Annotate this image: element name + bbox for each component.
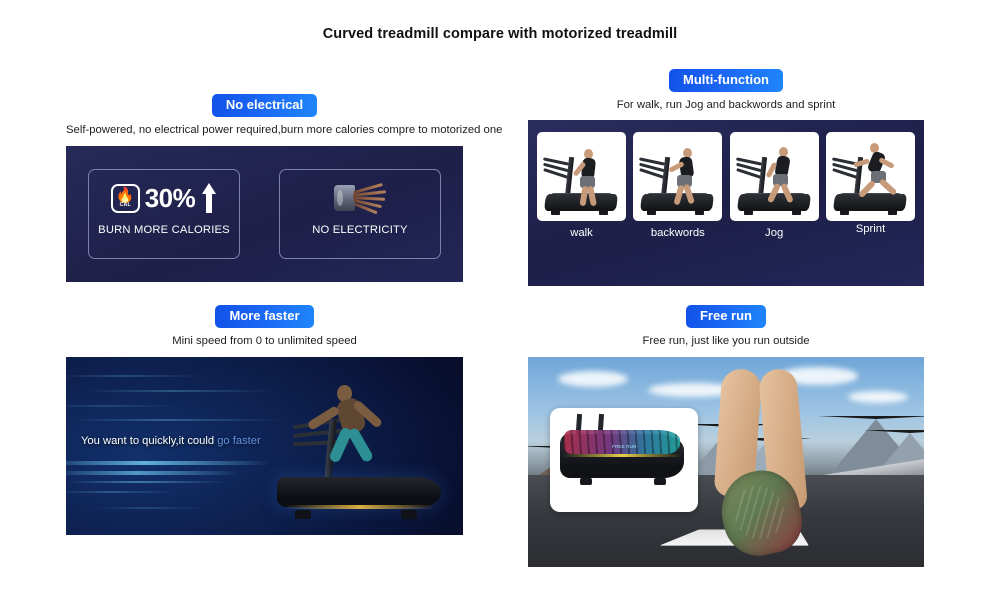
badge-multi-function[interactable]: Multi-function (669, 69, 783, 92)
badge-row: Free run (528, 305, 924, 328)
flame-glyph: 🔥 (116, 189, 135, 202)
treadmill-backwards-photo (633, 132, 722, 221)
up-arrow-icon (201, 183, 217, 213)
page-title: Curved treadmill compare with motorized … (0, 26, 1000, 42)
subtitle-more-faster: Mini speed from 0 to unlimited speed (66, 335, 463, 347)
panel-more-faster: More faster Mini speed from 0 to unlimit… (66, 305, 463, 535)
mode-label-jog: Jog (730, 227, 819, 239)
mode-label-walk: walk (537, 227, 626, 239)
treadmill-shape (633, 137, 722, 215)
treadmill-jog-photo (730, 132, 819, 221)
treadmill-shape (730, 137, 819, 215)
treadmill-sprint-photo (826, 132, 915, 221)
mode-item-walk[interactable]: walk (537, 132, 626, 239)
infographic-page: Curved treadmill compare with motorized … (0, 0, 1000, 600)
feature-value-row: 🔥 CAL 30% (89, 170, 239, 226)
speed-overlay-accent: go faster (217, 435, 261, 447)
badge-free-run[interactable]: Free run (686, 305, 766, 328)
panel-multi-function: Multi-function For walk, run Jog and bac… (528, 69, 924, 286)
mode-thumbnail-list: walk (528, 120, 924, 286)
mode-item-sprint[interactable]: Sprint (826, 132, 915, 235)
runner-illustration (311, 383, 421, 469)
feature-label-no-electricity: NO ELECTRICITY (280, 224, 440, 236)
treadmill-illustration (269, 381, 449, 521)
treadmill-shape (537, 137, 626, 215)
plug-body-shape (334, 185, 355, 211)
badge-row: Multi-function (528, 69, 924, 92)
subtitle-multi-function: For walk, run Jog and backwords and spri… (528, 99, 924, 111)
runner-legs-shape (706, 367, 856, 557)
mode-item-backwords[interactable]: backwords (633, 132, 722, 239)
feature-burn-more-calories: 🔥 CAL 30% BURN MORE CALORIES (88, 169, 240, 259)
flame-calorie-icon: 🔥 CAL (111, 184, 140, 213)
curved-treadmill-inset-photo: FREE RUN (550, 408, 698, 512)
subtitle-no-electrical: Self-powered, no electrical power requir… (66, 124, 463, 136)
speed-overlay-text: You want to quickly,it could go faster (81, 435, 261, 447)
runner-legs-mountain-road-photo: FREE RUN (528, 357, 924, 567)
badge-row: More faster (66, 305, 463, 328)
mode-label-sprint: Sprint (826, 223, 915, 235)
speed-overlay-plain: You want to quickly,it could (81, 435, 217, 447)
panel-free-run: Free run Free run, just like you run out… (528, 305, 924, 567)
feature-icon-row (280, 170, 440, 226)
unplugged-power-plug-icon (329, 180, 391, 216)
multi-function-content-box: walk (528, 120, 924, 286)
mode-label-backwords: backwords (633, 227, 722, 239)
feature-no-electricity: NO ELECTRICITY (279, 169, 441, 259)
inset-console-text: FREE RUN (612, 444, 637, 449)
no-electrical-content-box: 🔥 CAL 30% BURN MORE CALORIES (66, 146, 463, 282)
cal-icon-label: CAL (120, 202, 131, 208)
badge-row: No electrical (66, 94, 463, 117)
subtitle-free-run: Free run, just like you run outside (528, 335, 924, 347)
badge-no-electrical[interactable]: No electrical (212, 94, 317, 117)
mode-item-jog[interactable]: Jog (730, 132, 819, 239)
feature-label-calories: BURN MORE CALORIES (89, 224, 239, 236)
frayed-cable-shape (353, 183, 387, 213)
treadmill-shape (826, 137, 915, 215)
speed-streaks-treadmill-photo: You want to quickly,it could go faster (66, 357, 463, 535)
panel-no-electrical: No electrical Self-powered, no electrica… (66, 94, 463, 282)
badge-more-faster[interactable]: More faster (215, 305, 313, 328)
treadmill-walk-photo (537, 132, 626, 221)
calorie-percent-value: 30% (145, 185, 196, 211)
